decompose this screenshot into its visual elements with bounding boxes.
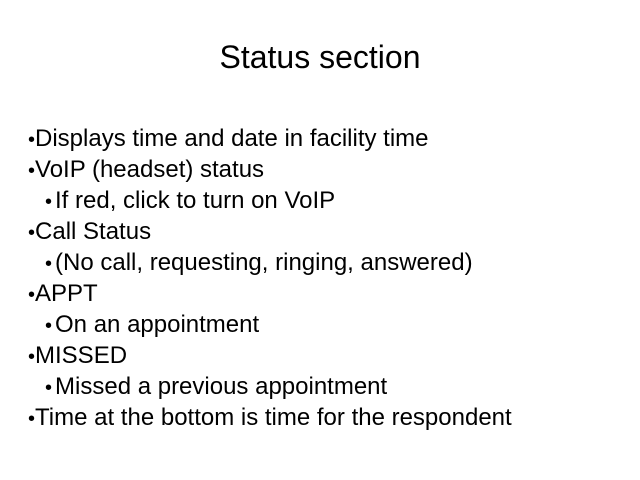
list-item-label: APPT [35, 280, 98, 307]
bullet-list: •Displays time and date in facility time… [24, 124, 624, 434]
bullet-dot-icon: • [28, 222, 35, 244]
list-item-label: If red, click to turn on VoIP [55, 187, 335, 214]
slide-canvas: Status section •Displays time and date i… [0, 0, 640, 480]
list-item: •MISSED [24, 341, 624, 372]
bullet-dot-icon: • [45, 377, 52, 399]
bullet-dot-icon: • [45, 191, 52, 213]
page-title: Status section [0, 38, 640, 76]
list-item: •On an appointment [24, 310, 624, 341]
list-item: •Missed a previous appointment [24, 372, 624, 403]
list-item-label: On an appointment [55, 311, 259, 338]
list-item: •(No call, requesting, ringing, answered… [24, 248, 624, 279]
bullet-dot-icon: • [28, 160, 35, 182]
bullet-dot-icon: • [45, 253, 52, 275]
list-item-label: Call Status [35, 218, 151, 245]
list-item-label: (No call, requesting, ringing, answered) [55, 249, 473, 276]
list-item: •VoIP (headset) status [24, 155, 624, 186]
bullet-dot-icon: • [28, 346, 35, 368]
list-item: •Time at the bottom is time for the resp… [24, 403, 624, 434]
list-item: •If red, click to turn on VoIP [24, 186, 624, 217]
list-item: •Displays time and date in facility time [24, 124, 624, 155]
list-item: •Call Status [24, 217, 624, 248]
list-item-label: MISSED [35, 342, 127, 369]
bullet-dot-icon: • [28, 408, 35, 430]
list-item-label: Time at the bottom is time for the respo… [35, 404, 512, 431]
list-item-label: Displays time and date in facility time [35, 125, 429, 152]
list-item-label: Missed a previous appointment [55, 373, 387, 400]
bullet-dot-icon: • [45, 315, 52, 337]
list-item: •APPT [24, 279, 624, 310]
list-item-label: VoIP (headset) status [35, 156, 264, 183]
bullet-dot-icon: • [28, 284, 35, 306]
bullet-dot-icon: • [28, 129, 35, 151]
